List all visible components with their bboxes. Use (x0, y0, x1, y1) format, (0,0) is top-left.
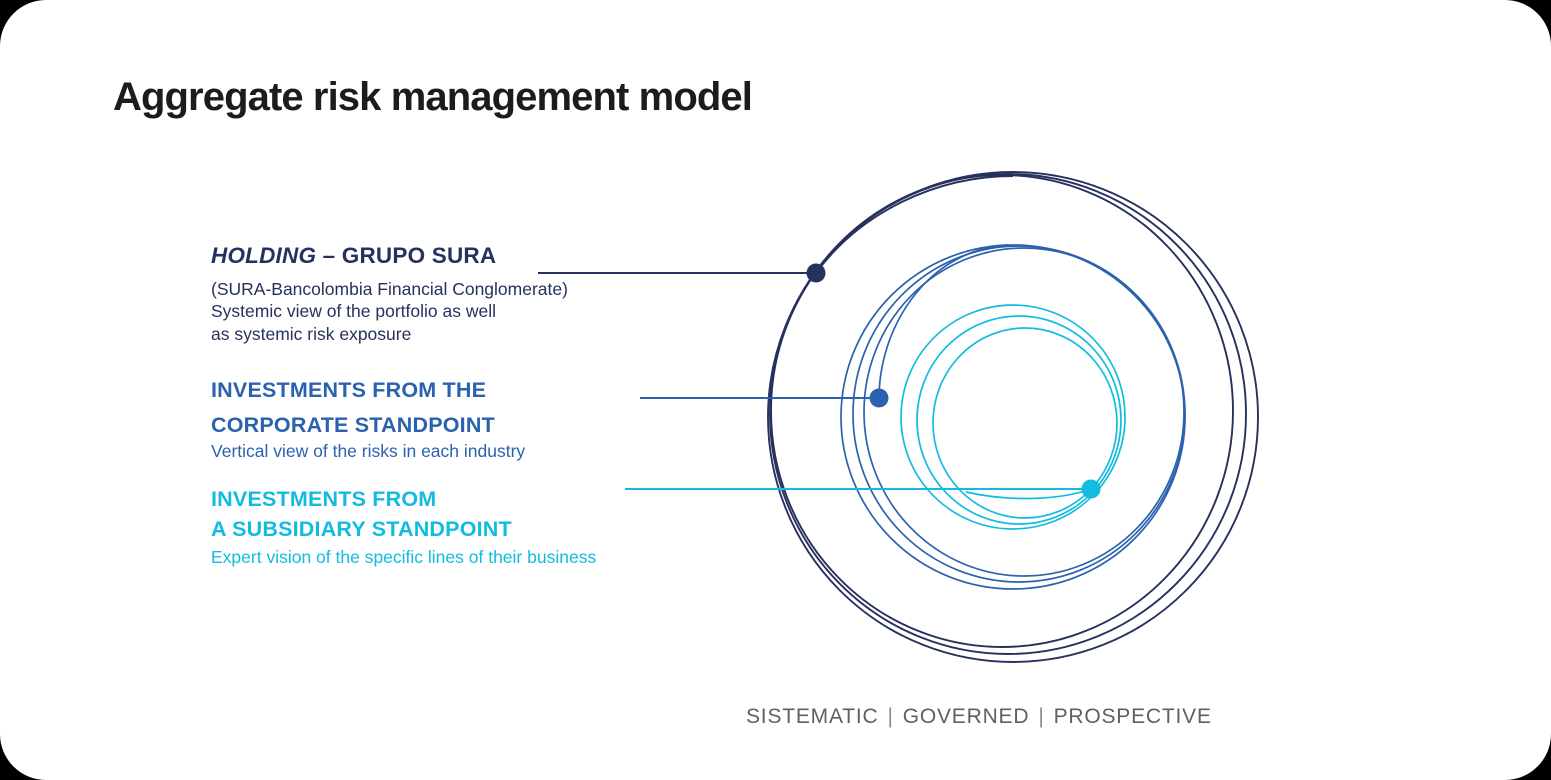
navy-ring-tail (816, 176, 1013, 273)
cyan-ring-3 (933, 328, 1117, 518)
cyan-ring-1 (901, 305, 1125, 529)
legend-sub-corporate-line-1: Vertical view of the risks in each indus… (211, 440, 525, 463)
legend-heading-subsidiary: INVESTMENTS FROM A SUBSIDIARY STANDPOINT (211, 487, 596, 543)
cyan-ring-2 (917, 316, 1121, 524)
legend-sub-holding: (SURA-Bancolombia Financial Conglomerate… (211, 278, 568, 346)
legend-heading-corporate: INVESTMENTS FROM THE CORPORATE STANDPOIN… (211, 378, 525, 439)
navy-ring-2 (770, 174, 1246, 654)
legend-heading-holding-italic: HOLDING (211, 243, 316, 268)
middle-blue-rings (841, 245, 1185, 589)
blue-ring-2 (853, 246, 1185, 582)
legend-sub-holding-line-2: Systemic view of the portfolio as well (211, 300, 568, 323)
holding-dot[interactable] (807, 264, 826, 283)
inner-cyan-rings (901, 305, 1125, 529)
legend-block-holding: HOLDING – GRUPO SURA (SURA-Bancolombia F… (211, 243, 568, 346)
navy-ring-3 (771, 175, 1233, 647)
legend-sub-corporate: Vertical view of the risks in each indus… (211, 440, 525, 463)
blue-ring-3 (864, 248, 1184, 576)
legend-sub-holding-line-3: as systemic risk exposure (211, 323, 568, 346)
legend-heading-holding-rest: – GRUPO SURA (316, 243, 496, 268)
legend-sub-subsidiary: Expert vision of the specific lines of t… (211, 546, 596, 569)
cyan-ring-tail (966, 489, 1091, 498)
blue-ring-tail (879, 245, 1008, 398)
legend-heading-corporate-line-2: CORPORATE STANDPOINT (211, 413, 525, 438)
legend-heading-corporate-line-1: INVESTMENTS FROM THE (211, 378, 486, 402)
footer-tag-governed: GOVERNED (903, 705, 1030, 728)
footer-tag-sistematic: SISTEMATIC (746, 705, 878, 728)
footer-separator-2: | (1029, 705, 1053, 728)
legend-heading-subsidiary-line-2: A SUBSIDIARY STANDPOINT (211, 517, 596, 542)
legend-block-subsidiary: INVESTMENTS FROM A SUBSIDIARY STANDPOINT… (211, 487, 596, 568)
subsidiary-dot[interactable] (1082, 480, 1101, 499)
legend-block-corporate: INVESTMENTS FROM THE CORPORATE STANDPOIN… (211, 378, 525, 462)
legend-sub-subsidiary-line-1: Expert vision of the specific lines of t… (211, 546, 596, 569)
infographic-card: Aggregate risk management model (0, 0, 1551, 780)
page-title: Aggregate risk management model (113, 75, 752, 120)
footer-tags: SISTEMATIC|GOVERNED|PROSPECTIVE (746, 705, 1212, 729)
footer-tag-prospective: PROSPECTIVE (1054, 705, 1212, 728)
navy-ring-1 (768, 172, 1258, 662)
legend-heading-subsidiary-line-1: INVESTMENTS FROM (211, 487, 436, 511)
legend-sub-holding-line-1: (SURA-Bancolombia Financial Conglomerate… (211, 278, 568, 301)
outer-navy-rings (768, 172, 1258, 662)
blue-ring-1 (841, 245, 1185, 589)
footer-separator-1: | (878, 705, 902, 728)
legend-heading-holding: HOLDING – GRUPO SURA (211, 243, 568, 270)
corporate-dot[interactable] (870, 389, 889, 408)
